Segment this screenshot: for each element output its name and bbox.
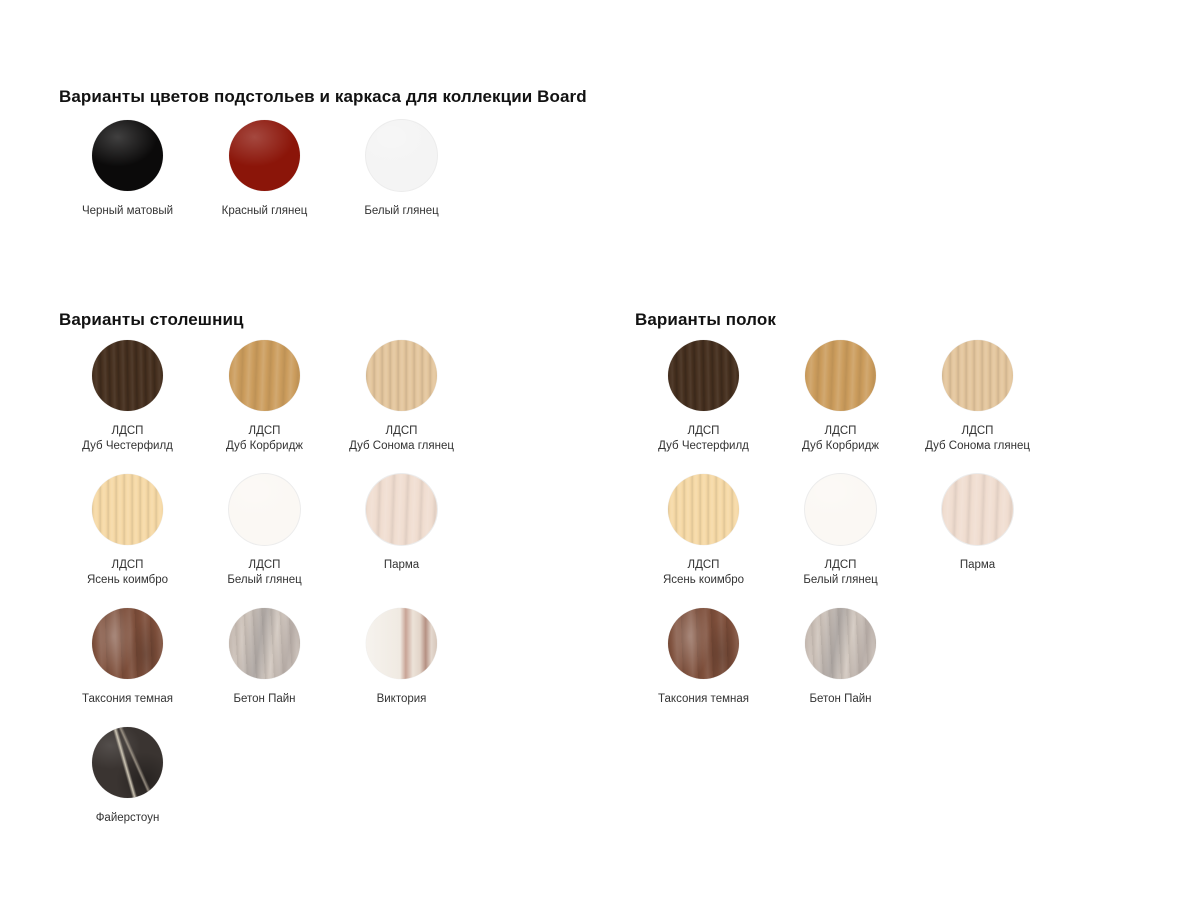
swatch-label: Виктория [377, 692, 427, 707]
swatch-texture-overlay [92, 727, 163, 798]
swatch-circle[interactable] [668, 340, 739, 411]
swatch-circle[interactable] [668, 608, 739, 679]
swatch-texture-overlay [92, 340, 163, 411]
swatch-label: ЛДСПБелый глянец [227, 558, 301, 588]
swatch-texture-overlay [366, 120, 437, 191]
swatch-material: ЛДСП [349, 424, 454, 439]
swatch-material: Виктория [377, 692, 427, 707]
swatch-material: Парма [960, 558, 995, 573]
swatch-material: Таксония темная [82, 692, 173, 707]
swatch-material: Парма [384, 558, 419, 573]
swatch-option[interactable]: ЛДСПЯсень коимбро [59, 474, 196, 588]
swatch-material: Белый глянец [364, 204, 438, 219]
swatch-label: Парма [960, 558, 995, 573]
swatch-option[interactable]: ЛДСПДуб Корбридж [772, 340, 909, 454]
swatch-option[interactable]: ЛДСПДуб Сонома глянец [333, 340, 470, 454]
swatch-material: ЛДСП [82, 424, 173, 439]
swatch-material: Бетон Пайн [809, 692, 871, 707]
swatch-circle[interactable] [942, 474, 1013, 545]
swatch-material: Бетон Пайн [233, 692, 295, 707]
swatch-label: ЛДСПДуб Сонома глянец [925, 424, 1030, 454]
swatch-circle[interactable] [942, 340, 1013, 411]
swatch-option[interactable]: ЛДСПБелый глянец [196, 474, 333, 588]
swatch-name: Ясень коимбро [87, 573, 168, 588]
swatch-label: ЛДСПЯсень коимбро [87, 558, 168, 588]
swatch-circle[interactable] [92, 727, 163, 798]
page-title: Варианты цветов подстольев и каркаса для… [59, 87, 587, 107]
swatch-texture-overlay [366, 608, 437, 679]
swatch-texture-overlay [92, 608, 163, 679]
swatch-texture-overlay [366, 340, 437, 411]
swatch-label: ЛДСПДуб Честерфилд [658, 424, 749, 454]
swatch-option[interactable]: Бетон Пайн [772, 608, 909, 707]
swatch-texture-overlay [942, 340, 1013, 411]
swatch-circle[interactable] [805, 608, 876, 679]
swatch-name: Дуб Корбридж [802, 439, 879, 454]
swatch-label: ЛДСПДуб Корбридж [226, 424, 303, 454]
swatch-option[interactable]: ЛДСПДуб Корбридж [196, 340, 333, 454]
swatch-name: Белый глянец [803, 573, 877, 588]
swatch-circle[interactable] [805, 340, 876, 411]
swatch-circle[interactable] [805, 474, 876, 545]
swatch-circle[interactable] [366, 474, 437, 545]
swatch-circle[interactable] [229, 608, 300, 679]
swatch-material: ЛДСП [802, 424, 879, 439]
swatch-texture-overlay [366, 474, 437, 545]
swatch-circle[interactable] [366, 608, 437, 679]
swatch-circle[interactable] [229, 474, 300, 545]
tabletop-color-grid: ЛДСПДуб ЧестерфилдЛДСПДуб КорбриджЛДСПДу… [59, 340, 470, 826]
swatch-label: ЛДСПДуб Корбридж [802, 424, 879, 454]
swatch-option[interactable]: ЛДСПДуб Честерфилд [59, 340, 196, 454]
swatch-texture-overlay [668, 474, 739, 545]
swatch-circle[interactable] [92, 608, 163, 679]
swatch-circle[interactable] [229, 120, 300, 191]
swatch-material: Черный матовый [82, 204, 173, 219]
swatch-option[interactable]: ЛДСПДуб Сонома глянец [909, 340, 1046, 454]
swatch-texture-overlay [805, 340, 876, 411]
swatch-circle[interactable] [366, 340, 437, 411]
swatch-material: ЛДСП [803, 558, 877, 573]
swatch-circle[interactable] [92, 474, 163, 545]
swatch-texture-overlay [229, 474, 300, 545]
swatch-option[interactable]: ЛДСПБелый глянец [772, 474, 909, 588]
tabletops-section-title: Варианты столешниц [59, 310, 244, 330]
swatch-texture-overlay [229, 340, 300, 411]
swatch-texture-overlay [805, 608, 876, 679]
swatch-label: Файерстоун [96, 811, 160, 826]
swatch-option[interactable]: Парма [909, 474, 1046, 588]
swatch-option[interactable]: Таксония темная [59, 608, 196, 707]
swatch-material: Красный глянец [222, 204, 308, 219]
frame-color-grid: Черный матовыйКрасный глянецБелый глянец [59, 120, 470, 219]
swatch-material: ЛДСП [658, 424, 749, 439]
swatch-circle[interactable] [668, 474, 739, 545]
swatch-option[interactable]: ЛДСПЯсень коимбро [635, 474, 772, 588]
swatch-circle[interactable] [366, 120, 437, 191]
swatch-material: ЛДСП [227, 558, 301, 573]
swatch-label: Черный матовый [82, 204, 173, 219]
swatch-option[interactable]: Белый глянец [333, 120, 470, 219]
swatch-label: Таксония темная [82, 692, 173, 707]
swatch-option[interactable]: Черный матовый [59, 120, 196, 219]
swatch-circle[interactable] [92, 340, 163, 411]
swatch-material: Файерстоун [96, 811, 160, 826]
swatch-material: ЛДСП [87, 558, 168, 573]
swatch-name: Дуб Сонома глянец [925, 439, 1030, 454]
swatch-name: Белый глянец [227, 573, 301, 588]
swatch-label: ЛДСПЯсень коимбро [663, 558, 744, 588]
swatch-material: ЛДСП [226, 424, 303, 439]
swatch-texture-overlay [229, 120, 300, 191]
swatch-name: Дуб Корбридж [226, 439, 303, 454]
swatch-option[interactable]: Виктория [333, 608, 470, 707]
swatch-texture-overlay [805, 474, 876, 545]
swatch-option[interactable]: Файерстоун [59, 727, 196, 826]
swatch-option[interactable]: ЛДСПДуб Честерфилд [635, 340, 772, 454]
swatch-texture-overlay [92, 120, 163, 191]
shelf-color-grid: ЛДСПДуб ЧестерфилдЛДСПДуб КорбриджЛДСПДу… [635, 340, 1046, 707]
swatch-label: Белый глянец [364, 204, 438, 219]
swatch-option[interactable]: Парма [333, 474, 470, 588]
swatch-label: Бетон Пайн [809, 692, 871, 707]
swatch-texture-overlay [942, 474, 1013, 545]
swatch-texture-overlay [92, 474, 163, 545]
swatch-label: ЛДСПБелый глянец [803, 558, 877, 588]
swatch-option[interactable]: Красный глянец [196, 120, 333, 219]
shelves-section-title: Варианты полок [635, 310, 776, 330]
swatch-option[interactable]: Таксония темная [635, 608, 772, 707]
swatch-material: ЛДСП [663, 558, 744, 573]
swatch-material: ЛДСП [925, 424, 1030, 439]
swatch-label: Парма [384, 558, 419, 573]
swatch-name: Дуб Сонома глянец [349, 439, 454, 454]
swatch-texture-overlay [668, 608, 739, 679]
swatch-texture-overlay [668, 340, 739, 411]
swatch-name: Дуб Честерфилд [658, 439, 749, 454]
color-options-page: Варианты цветов подстольев и каркаса для… [0, 0, 1200, 900]
swatch-name: Дуб Честерфилд [82, 439, 173, 454]
swatch-option[interactable]: Бетон Пайн [196, 608, 333, 707]
swatch-name: Ясень коимбро [663, 573, 744, 588]
swatch-label: ЛДСПДуб Сонома глянец [349, 424, 454, 454]
swatch-label: ЛДСПДуб Честерфилд [82, 424, 173, 454]
swatch-texture-overlay [229, 608, 300, 679]
swatch-label: Таксония темная [658, 692, 749, 707]
swatch-circle[interactable] [92, 120, 163, 191]
swatch-label: Бетон Пайн [233, 692, 295, 707]
swatch-circle[interactable] [229, 340, 300, 411]
swatch-label: Красный глянец [222, 204, 308, 219]
swatch-material: Таксония темная [658, 692, 749, 707]
